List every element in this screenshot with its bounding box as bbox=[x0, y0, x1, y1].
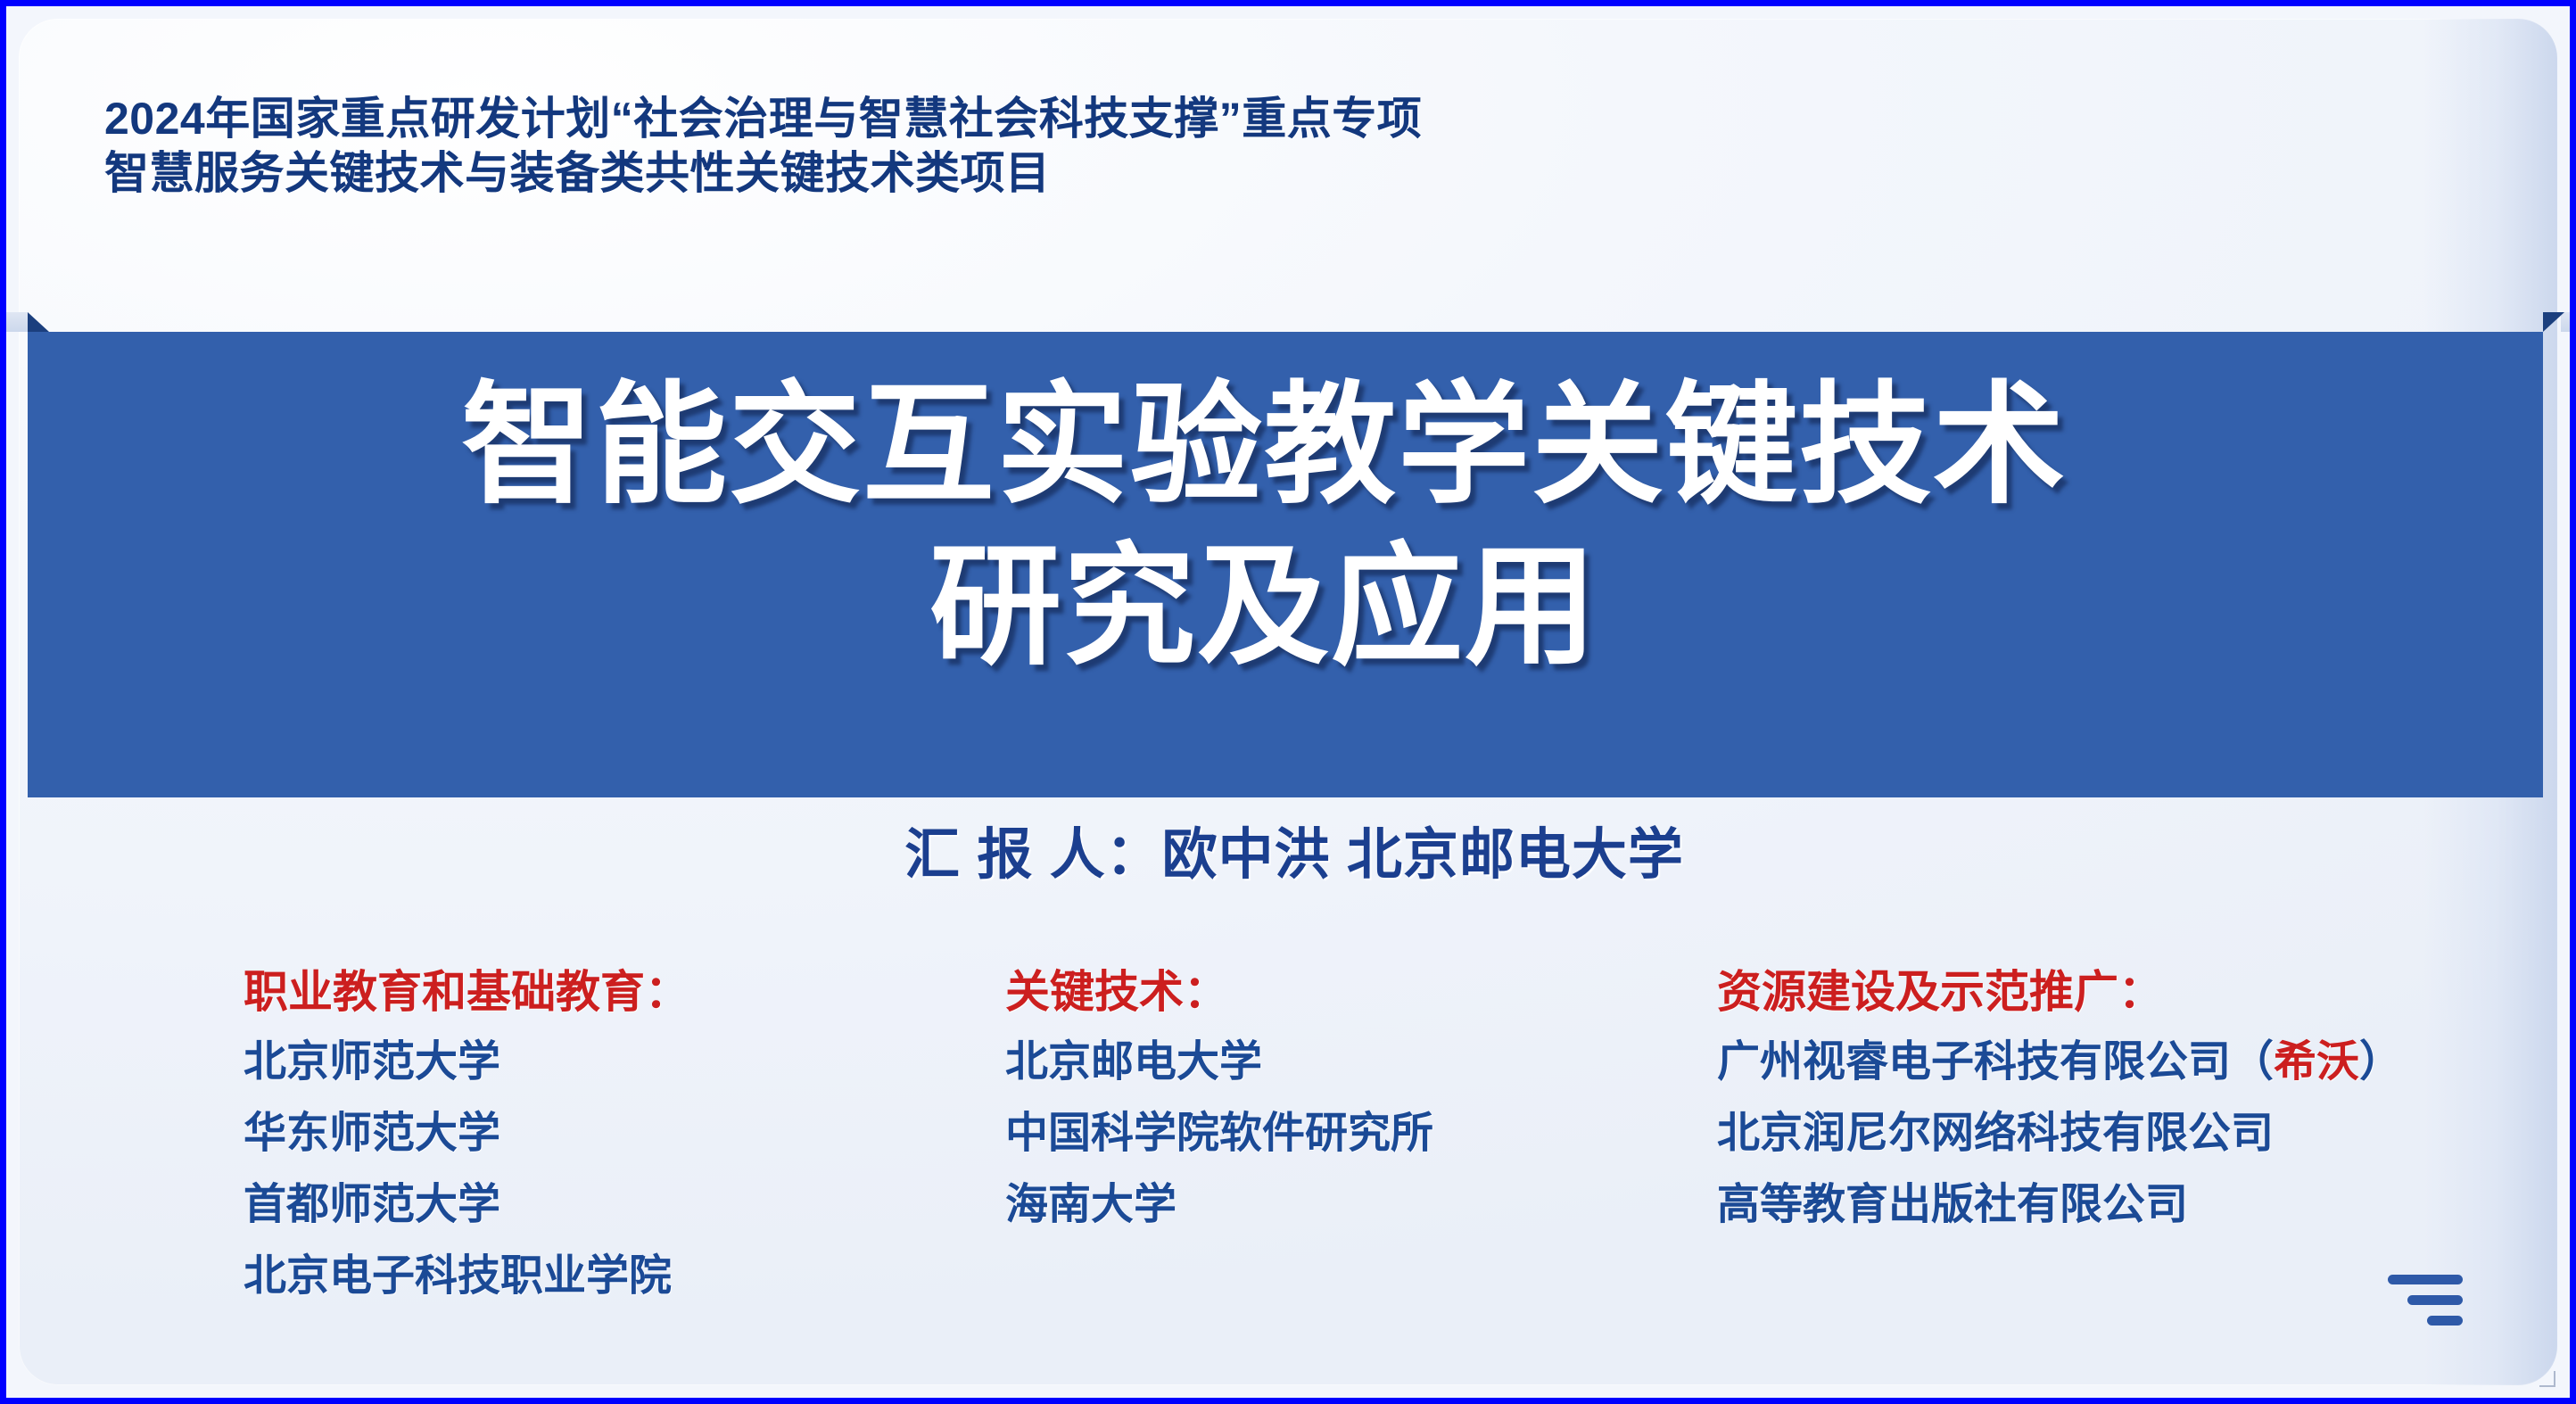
column-heading: 职业教育和基础教育： bbox=[244, 970, 689, 1014]
column-heading: 关键技术： bbox=[1005, 970, 1433, 1014]
institution-item: 北京邮电大学 bbox=[1005, 1041, 1433, 1084]
presenter-line: 汇 报 人：欧中洪 北京邮电大学 bbox=[6, 809, 2576, 889]
ribbon-tab-left bbox=[6, 312, 28, 332]
ribbon-fold-left-icon bbox=[28, 312, 49, 332]
program-header: 2024年国家重点研发计划“社会治理与智慧社会科技支撑”重点专项 智慧服务关键技… bbox=[104, 92, 2334, 201]
institution-item: 海南大学 bbox=[1005, 1184, 1433, 1226]
institution-item: 北京电子科技职业学院 bbox=[244, 1255, 689, 1298]
institution-columns: 职业教育和基础教育： 北京师范大学 华东师范大学 首都师范大学 北京电子科技职业… bbox=[6, 970, 2576, 1344]
align-icon-bar-1 bbox=[2388, 1275, 2463, 1284]
institution-item: 首都师范大学 bbox=[244, 1184, 689, 1226]
align-right-icon[interactable] bbox=[2388, 1273, 2463, 1328]
program-header-line-2: 智慧服务关键技术与装备类共性关键技术类项目 bbox=[104, 146, 2334, 201]
institution-item: 华东师范大学 bbox=[244, 1112, 689, 1155]
main-title-line-2: 研究及应用 bbox=[6, 527, 2522, 689]
institution-column-key-technology: 关键技术： 北京邮电大学 中国科学院软件研究所 海南大学 bbox=[1005, 970, 1433, 1255]
institution-item: 广州视睿电子科技有限公司（希沃） bbox=[1717, 1041, 2402, 1084]
main-title: 智能交互实验教学关键技术 研究及应用 bbox=[6, 332, 2522, 688]
ribbon-fold-right-icon bbox=[2543, 312, 2564, 332]
resize-handle[interactable] bbox=[2539, 1371, 2555, 1387]
column-heading: 资源建设及示范推广： bbox=[1717, 970, 2402, 1014]
institution-item: 北京师范大学 bbox=[244, 1041, 689, 1084]
institution-item: 高等教育出版社有限公司 bbox=[1717, 1184, 2402, 1226]
align-icon-bar-3 bbox=[2427, 1316, 2463, 1326]
institution-item: 中国科学院软件研究所 bbox=[1005, 1112, 1433, 1155]
align-icon-bar-2 bbox=[2407, 1295, 2463, 1305]
institution-brand-accent: 希沃 bbox=[2274, 1038, 2359, 1086]
main-title-line-1: 智能交互实验教学关键技术 bbox=[6, 366, 2522, 527]
institution-name-prefix: 广州视睿电子科技有限公司（ bbox=[1717, 1038, 2274, 1086]
institution-item: 北京润尼尔网络科技有限公司 bbox=[1717, 1112, 2402, 1155]
program-header-line-1: 2024年国家重点研发计划“社会治理与智慧社会科技支撑”重点专项 bbox=[104, 92, 2334, 146]
institution-name-suffix: ） bbox=[2359, 1038, 2402, 1086]
institution-column-resource-promotion: 资源建设及示范推广： 广州视睿电子科技有限公司（希沃） 北京润尼尔网络科技有限公… bbox=[1717, 970, 2402, 1255]
institution-column-vocational-basic-education: 职业教育和基础教育： 北京师范大学 华东师范大学 首都师范大学 北京电子科技职业… bbox=[244, 970, 689, 1326]
title-banner-wrapper: 智能交互实验教学关键技术 研究及应用 bbox=[6, 312, 2576, 798]
presentation-slide-frame: 2024年国家重点研发计划“社会治理与智慧社会科技支撑”重点专项 智慧服务关键技… bbox=[0, 0, 2576, 1404]
